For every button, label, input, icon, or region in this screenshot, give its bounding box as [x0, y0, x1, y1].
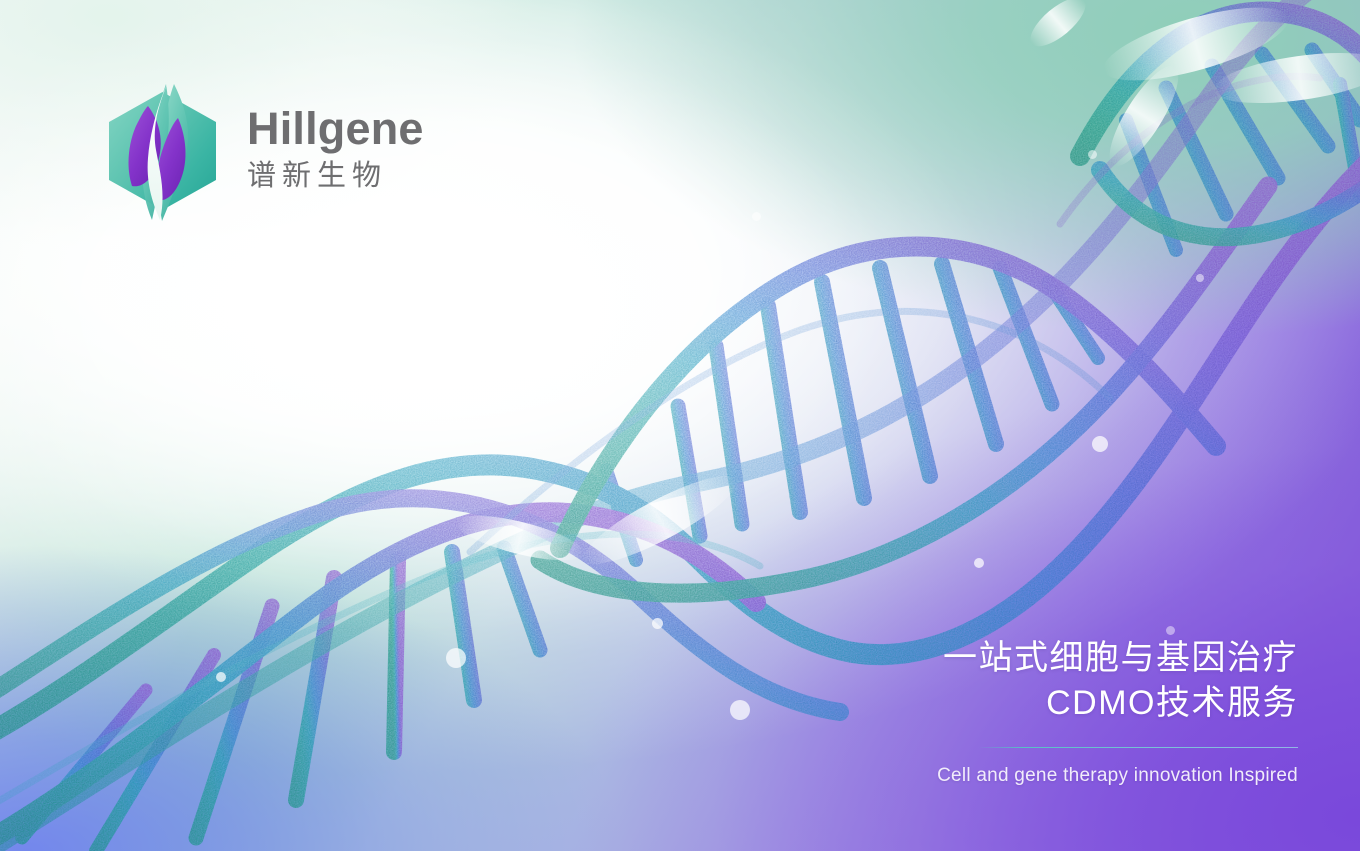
tagline-divider [978, 747, 1298, 748]
tagline-cn-line2: CDMO技术服务 [878, 681, 1298, 726]
hexagon-leaf-logo-icon [100, 78, 225, 224]
tagline-en: Cell and gene therapy innovation Inspire… [878, 765, 1298, 787]
brand-text: Hillgene 谱新生物 [247, 106, 424, 197]
brand-logo-block[interactable]: Hillgene 谱新生物 [100, 78, 424, 224]
brand-name-cn: 谱新生物 [247, 161, 424, 193]
hero-banner: Hillgene 谱新生物 一站式细胞与基因治疗 CDMO技术服务 Cell a… [0, 0, 1360, 851]
tagline-cn-line1: 一站式细胞与基因治疗 [878, 636, 1298, 681]
tagline-block: 一站式细胞与基因治疗 CDMO技术服务 Cell and gene therap… [878, 636, 1298, 787]
brand-name-en: Hillgene [247, 106, 424, 152]
